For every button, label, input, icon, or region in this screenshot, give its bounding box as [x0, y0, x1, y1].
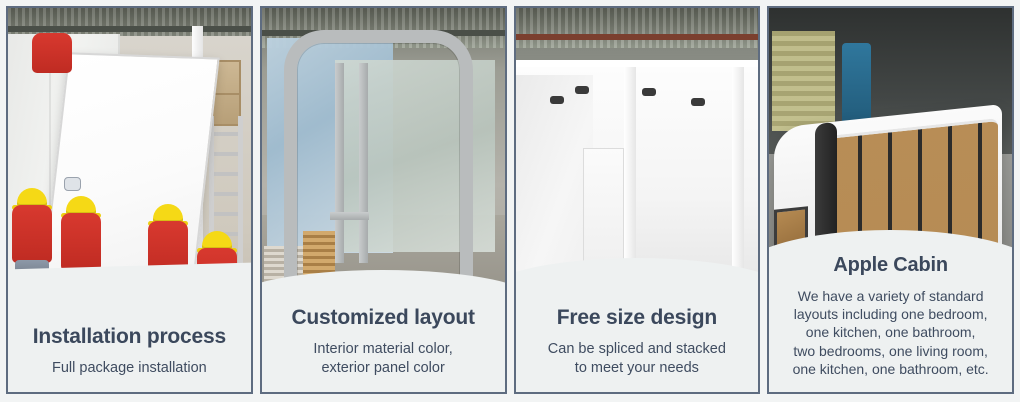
card-caption-free-size-design: Free size design Can be spliced and stac… [516, 306, 759, 392]
card-description: Full package installation [18, 359, 241, 378]
card-description: Interior material color, exterior panel … [272, 340, 495, 378]
card-title: Customized layout [272, 306, 495, 331]
card-description: Can be spliced and stacked to meet your … [526, 340, 749, 378]
card-title: Apple Cabin [779, 254, 1002, 278]
card-title: Installation process [18, 325, 241, 350]
feature-card-free-size-design[interactable]: Free size design Can be spliced and stac… [514, 6, 761, 394]
feature-card-installation-process[interactable]: Installation process Full package instal… [6, 6, 253, 394]
card-caption-customized-layout: Customized layout Interior material colo… [262, 306, 505, 392]
card-description: We have a variety of standard layouts in… [779, 287, 1002, 378]
card-caption-apple-cabin: Apple Cabin We have a variety of standar… [769, 254, 1012, 392]
card-title: Free size design [526, 306, 749, 331]
cabin-steel-frame [284, 30, 473, 310]
feature-card-row: Installation process Full package instal… [0, 0, 1020, 402]
feature-card-customized-layout[interactable]: Customized layout Interior material colo… [260, 6, 507, 394]
card-caption-installation-process: Installation process Full package instal… [8, 325, 251, 392]
feature-card-apple-cabin[interactable]: Apple Cabin We have a variety of standar… [767, 6, 1014, 394]
